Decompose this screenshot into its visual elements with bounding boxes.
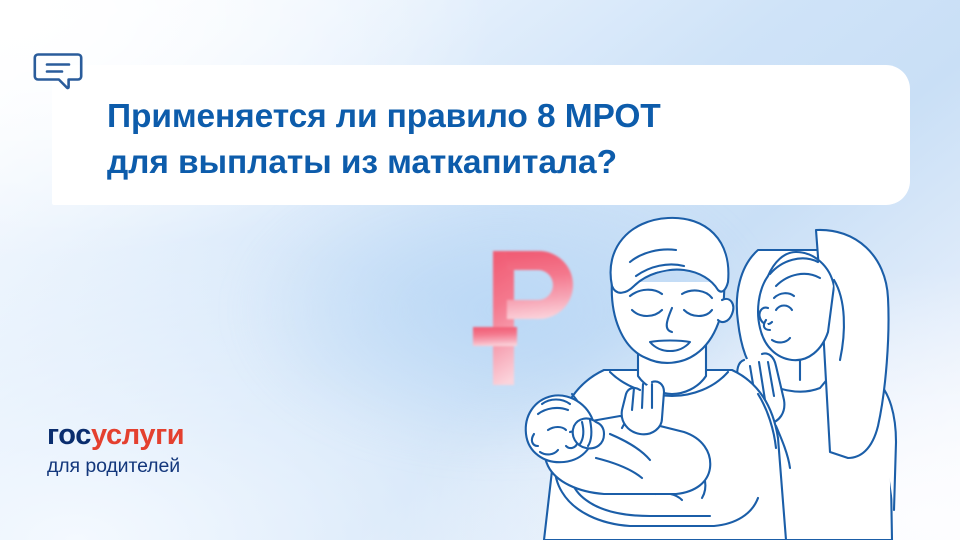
- question-title: Применяется ли правило 8 МРОТ для выплат…: [107, 94, 887, 186]
- logo-subtitle: для родителей: [47, 454, 297, 478]
- logo-word-part-b: услуги: [91, 419, 184, 451]
- banner-canvas: Применяется ли правило 8 МРОТ для выплат…: [0, 0, 960, 540]
- logo-wordmark: госуслуги: [47, 420, 297, 451]
- logo-word-part-a: гос: [47, 419, 91, 451]
- family-illustration: [500, 190, 960, 540]
- speech-bubble-icon: [33, 50, 83, 92]
- gosuslugi-logo[interactable]: госуслуги для родителей: [47, 420, 297, 478]
